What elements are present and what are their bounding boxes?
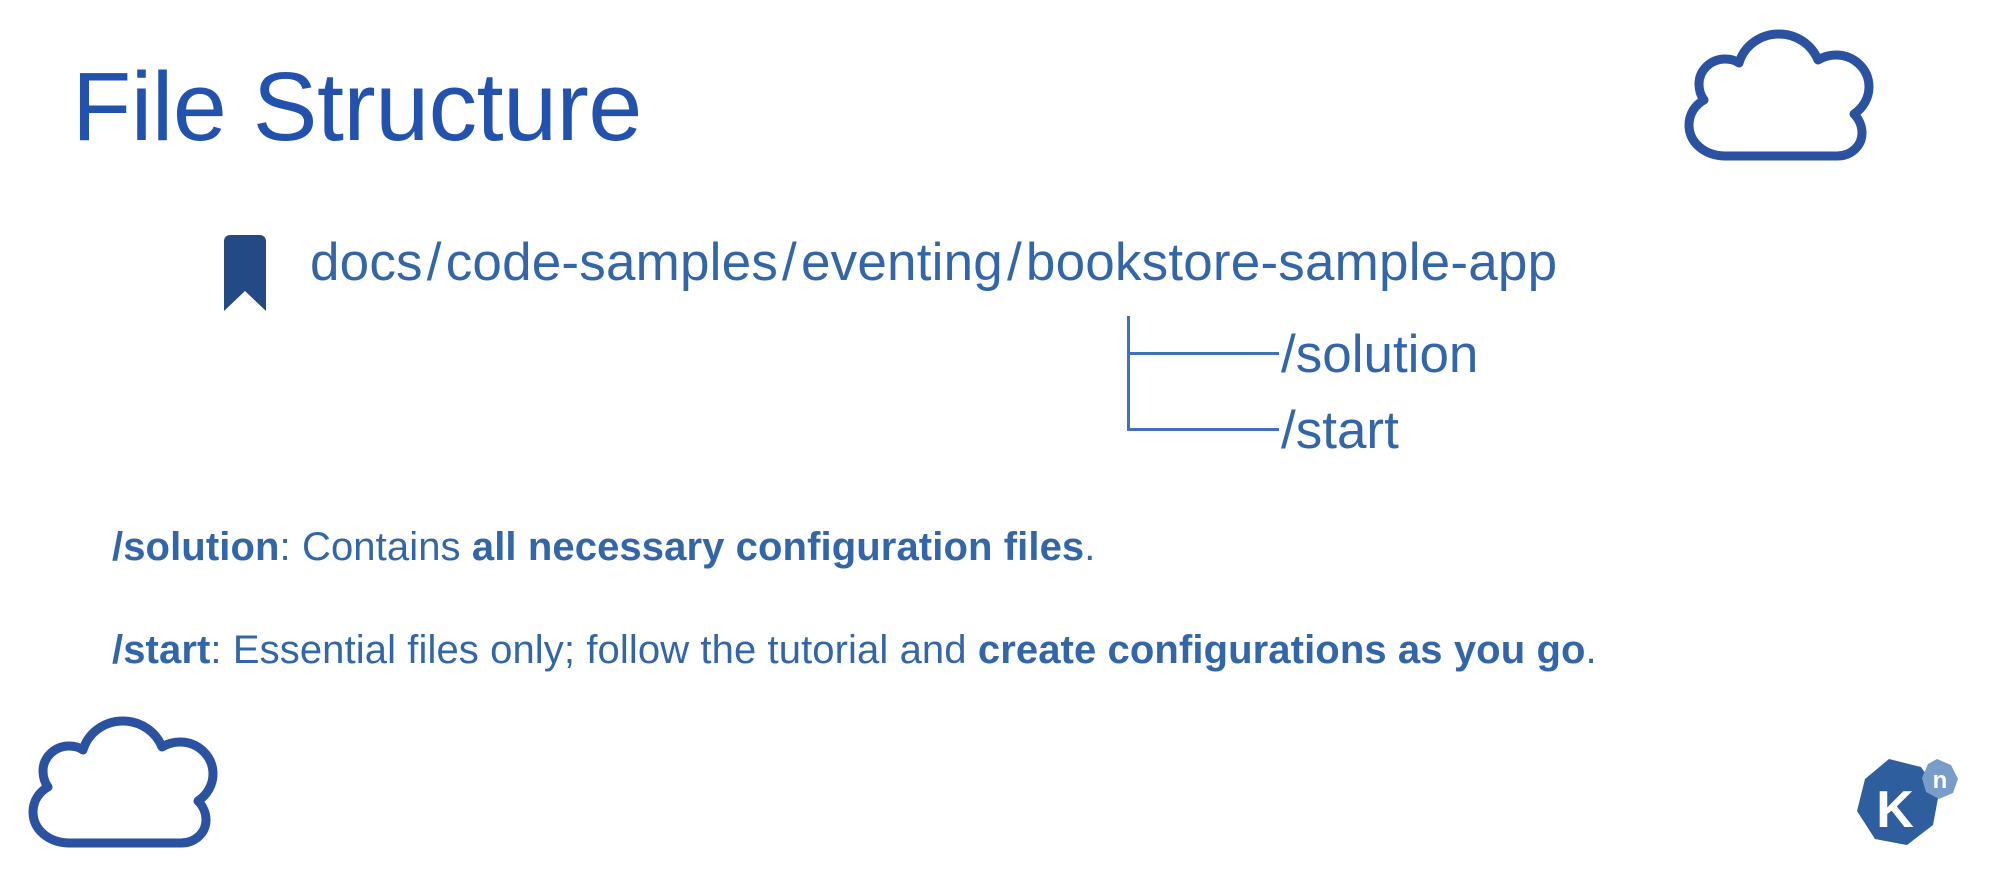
tree-horizontal-line [1127, 428, 1279, 431]
body-tail-start: . [1586, 628, 1597, 672]
tree-branch-icon [1127, 316, 1279, 392]
breadcrumb: docs/code-samples/eventing/bookstore-sam… [310, 236, 1557, 289]
page-title: File Structure [72, 58, 642, 155]
breadcrumb-separator: / [1003, 233, 1026, 292]
tree-corner-icon [1127, 392, 1279, 468]
tree-vertical-line [1127, 392, 1130, 431]
body-line-start: /start: Essential files only; follow the… [112, 630, 1597, 670]
body-line-solution: /solution: Contains all necessary config… [112, 527, 1095, 567]
knative-logo-k: K [1876, 781, 1914, 839]
body-emphasis-solution: all necessary configuration files [472, 525, 1084, 569]
tree-row: /start [1127, 392, 1399, 468]
tree-label-solution: /solution [1281, 328, 1478, 381]
body-term-start: /start [112, 628, 210, 672]
breadcrumb-segment-eventing: eventing [801, 233, 1003, 292]
body-tail-solution: . [1084, 525, 1095, 569]
breadcrumb-segment-docs: docs [310, 233, 423, 292]
body-emphasis-start: create configurations as you go [978, 628, 1586, 672]
breadcrumb-segment-code-samples: code-samples [446, 233, 778, 292]
tree-row: /solution [1127, 316, 1478, 392]
cloud-icon [1664, 28, 1879, 163]
knative-logo-n: n [1933, 767, 1948, 794]
body-term-solution: /solution [112, 525, 280, 569]
breadcrumb-separator: / [778, 233, 801, 292]
breadcrumb-segment-bookstore-sample-app: bookstore-sample-app [1026, 233, 1557, 292]
tree-label-start: /start [1281, 404, 1399, 457]
bookmark-icon [220, 233, 270, 313]
knative-logo: K n [1845, 755, 1961, 855]
body-mid-start: : Essential files only; follow the tutor… [210, 628, 977, 672]
slide-canvas: File Structure docs/code-samples/eventin… [0, 0, 1999, 877]
cloud-icon [8, 715, 223, 850]
body-mid-solution: : Contains [280, 525, 472, 569]
tree-horizontal-line [1127, 352, 1279, 355]
breadcrumb-separator: / [423, 233, 446, 292]
